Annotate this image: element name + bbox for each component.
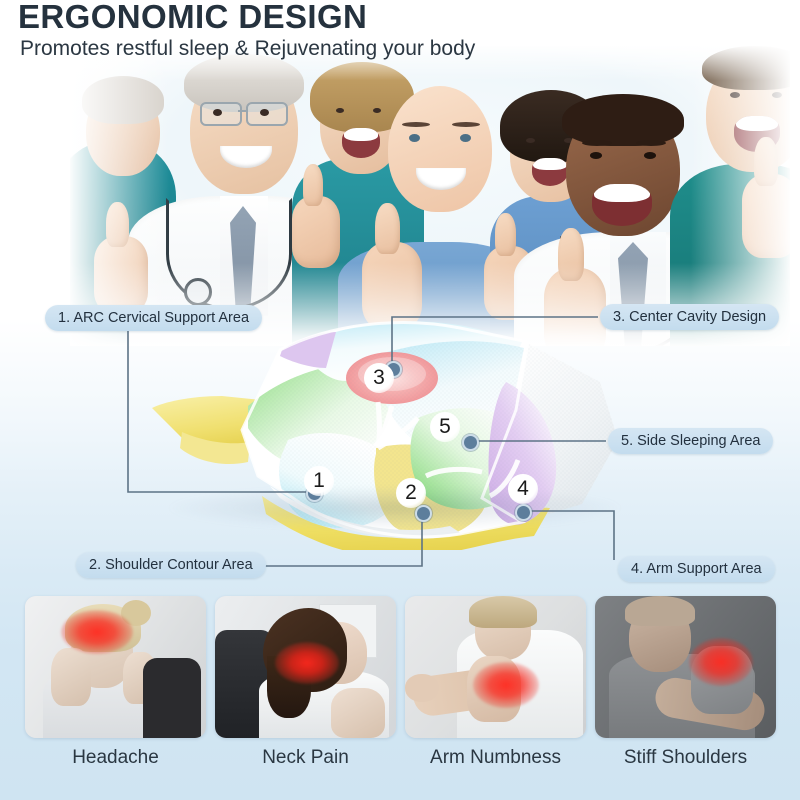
symptom-card-row: Headache Neck Pain [0,596,800,800]
symptom-photo-headache [25,596,206,738]
infographic-page: ERGONOMIC DESIGN Promotes restful sleep … [0,0,800,800]
callout-label-1[interactable]: 1. ARC Cervical Support Area [45,305,262,331]
marker-dot-4[interactable] [515,504,532,521]
number-badge-5: 5 [430,412,460,442]
symptom-card[interactable]: Stiff Shoulders [595,596,776,770]
callout-label-5[interactable]: 5. Side Sleeping Area [608,428,773,454]
symptom-caption: Neck Pain [215,746,396,770]
number-badge-2: 2 [396,478,426,508]
page-subtitle: Promotes restful sleep & Rejuvenating yo… [20,36,475,62]
number-badge-1: 1 [304,466,334,496]
symptom-caption: Arm Numbness [405,746,586,770]
symptom-photo-neck-pain [215,596,396,738]
pain-highlight [275,642,339,684]
marker-dot-2[interactable] [415,505,432,522]
page-title: ERGONOMIC DESIGN [18,0,367,34]
number-badge-3: 3 [364,363,394,393]
symptom-photo-stiff-shoulders [595,596,776,738]
symptom-card[interactable]: Neck Pain [215,596,396,770]
callout-label-3[interactable]: 3. Center Cavity Design [600,304,779,330]
symptom-card[interactable]: Headache [25,596,206,770]
pain-highlight [473,662,539,708]
marker-dot-5[interactable] [462,434,479,451]
symptom-photo-arm-numbness [405,596,586,738]
number-badge-4: 4 [508,474,538,504]
callout-label-2[interactable]: 2. Shoulder Contour Area [76,552,266,578]
pain-highlight [689,638,753,686]
symptom-caption: Stiff Shoulders [595,746,776,770]
pain-highlight [61,610,133,654]
symptom-card[interactable]: Arm Numbness [405,596,586,770]
callout-label-4[interactable]: 4. Arm Support Area [618,556,775,582]
symptom-caption: Headache [25,746,206,770]
pillow-drop-shadow [170,486,620,530]
